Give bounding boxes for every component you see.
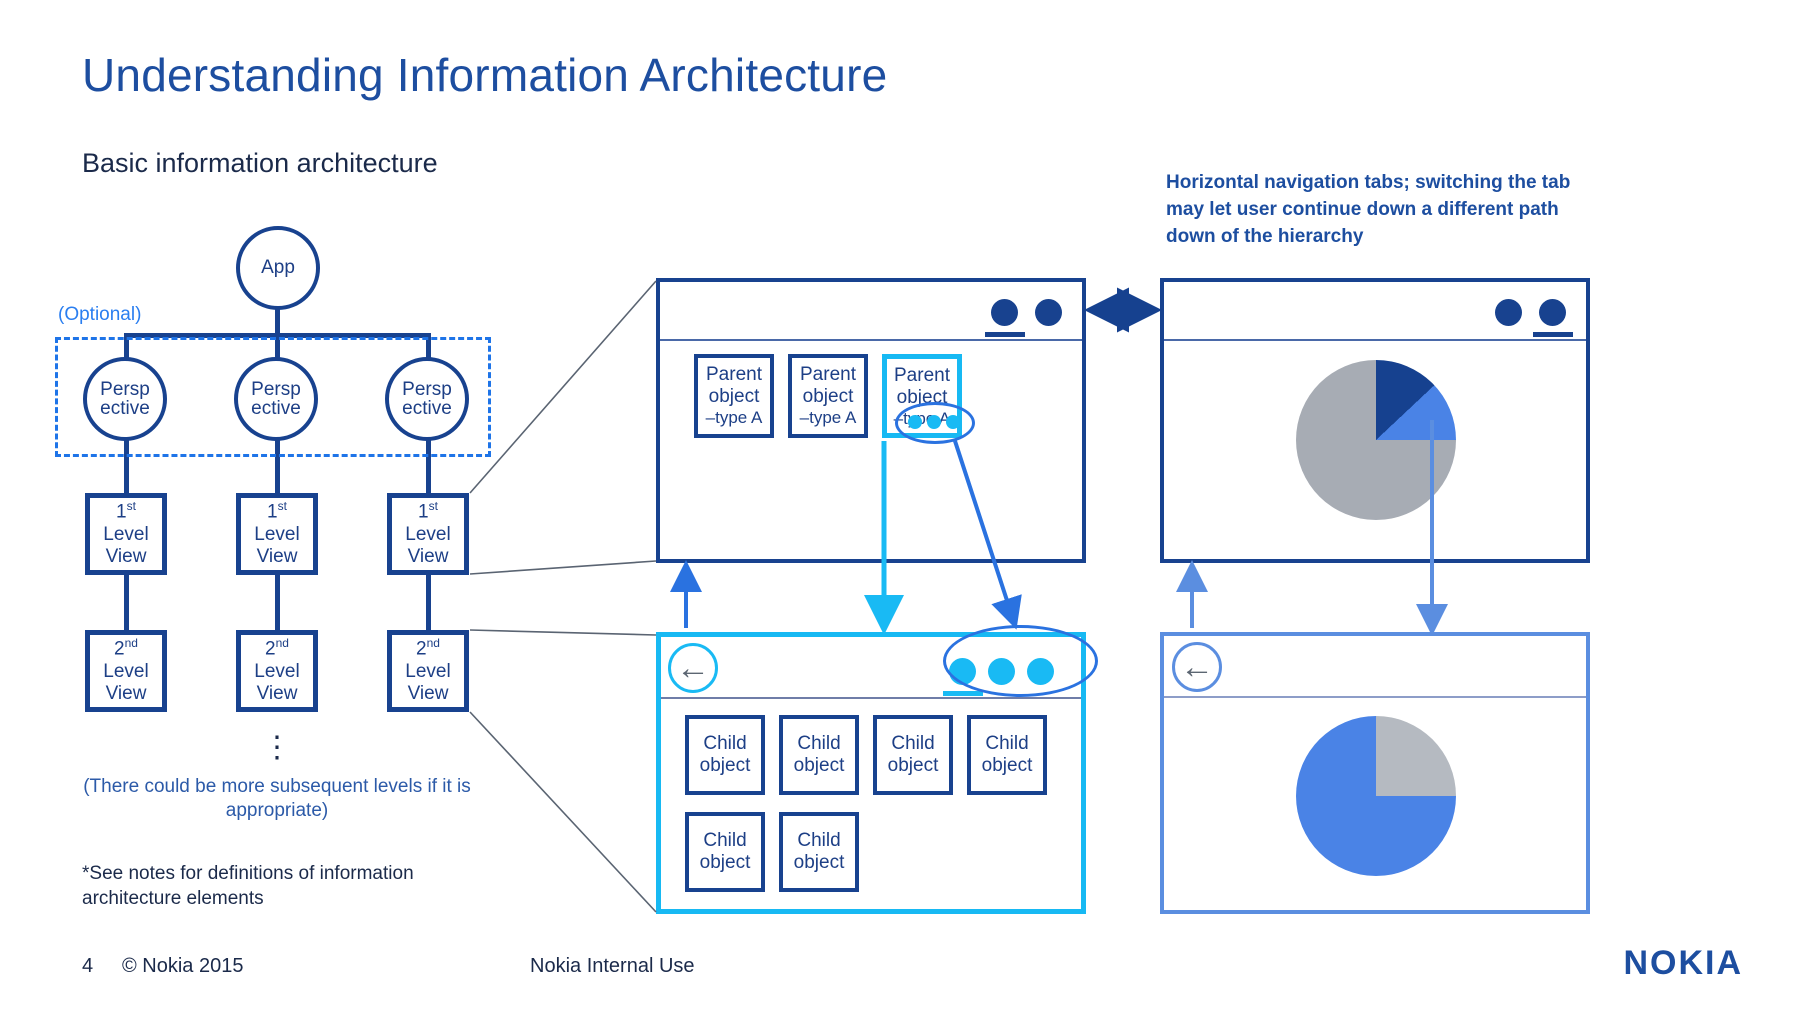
connector-lvl1-to-lvl2-1: [124, 574, 129, 634]
tree-node-level2-2[interactable]: 2nd Level View: [236, 630, 318, 712]
tree-node-label-line1: 1st: [418, 499, 438, 524]
footnote-see-notes: *See notes for definitions of informatio…: [82, 862, 482, 911]
child-object-card-2[interactable]: Child object: [779, 715, 859, 795]
tree-node-label-line1: Persp: [402, 380, 452, 399]
card-line1: Child: [891, 733, 934, 755]
tree-node-label-line3: View: [408, 683, 449, 705]
card-line2: object: [700, 755, 751, 777]
tree-node-label-line2: Level: [254, 524, 299, 546]
card-line1: Parent: [706, 364, 762, 386]
tree-node-level2-1[interactable]: 2nd Level View: [85, 630, 167, 712]
header-divider: [661, 697, 1081, 699]
leader-line-level2-to-child-top: [470, 630, 656, 635]
screen-chart-view-bottom: ←: [1160, 632, 1590, 914]
connector-lvl1-to-lvl2-2: [275, 574, 280, 634]
tree-node-label-line2: Level: [103, 661, 148, 683]
header-divider: [1164, 339, 1586, 341]
card-line2: object: [794, 852, 845, 874]
tree-node-label-line1: 2nd: [416, 636, 440, 661]
tree-node-label-line2: ective: [100, 399, 150, 418]
tree-node-label-line3: View: [257, 546, 298, 568]
footer-copyright: © Nokia 2015: [122, 955, 243, 978]
child-object-card-6[interactable]: Child object: [779, 812, 859, 892]
card-line1: Child: [797, 733, 840, 755]
card-line2: object: [803, 386, 854, 408]
footer-page-number: 4: [82, 955, 93, 978]
header-divider: [1164, 696, 1586, 698]
more-levels-note: (There could be more subsequent levels i…: [77, 775, 477, 824]
back-button[interactable]: ←: [668, 643, 718, 693]
arrow-left-icon: ←: [676, 651, 710, 685]
card-line1: Child: [703, 830, 746, 852]
tree-node-app[interactable]: App: [236, 226, 320, 310]
tree-node-perspective-3[interactable]: Persp ective: [385, 357, 469, 441]
tree-node-label-line2: Level: [254, 661, 299, 683]
tree-node-level2-3[interactable]: 2nd Level View: [387, 630, 469, 712]
tab-active-underline: [1533, 332, 1573, 337]
pie-chart-top-right: [1296, 360, 1456, 520]
card-line2: object: [794, 755, 845, 777]
vertical-ellipsis: ⋮: [257, 742, 297, 755]
card-line2: object: [888, 755, 939, 777]
card-line2: object: [700, 852, 751, 874]
nokia-logo: NOKIA: [1623, 944, 1743, 983]
tab-dot-2[interactable]: [1539, 299, 1566, 326]
tree-node-level1-2[interactable]: 1st Level View: [236, 493, 318, 575]
tree-node-label-line1: Persp: [251, 380, 301, 399]
tree-node-level1-3[interactable]: 1st Level View: [387, 493, 469, 575]
card-line3: –type A: [706, 408, 763, 428]
tree-node-label-line1: 1st: [267, 499, 287, 524]
tree-node-label-line2: ective: [251, 399, 301, 418]
card-line1: Parent: [800, 364, 856, 386]
footer-classification: Nokia Internal Use: [530, 955, 695, 978]
card-line1: Child: [703, 733, 746, 755]
arrow-left-icon: ←: [1180, 650, 1214, 684]
tree-node-label: App: [261, 258, 295, 277]
back-button[interactable]: ←: [1172, 642, 1222, 692]
tree-node-perspective-1[interactable]: Persp ective: [83, 357, 167, 441]
annotation-nav-note: Horizontal navigation tabs; switching th…: [1166, 170, 1586, 251]
card-line2: object: [982, 755, 1033, 777]
tab-active-underline: [985, 332, 1025, 337]
screen-chart-view-top: [1160, 278, 1590, 563]
tree-node-level1-1[interactable]: 1st Level View: [85, 493, 167, 575]
tree-node-label-line2: Level: [405, 661, 450, 683]
optional-label: (Optional): [58, 304, 141, 326]
tree-node-label-line3: View: [106, 683, 147, 705]
card-line1: Parent: [894, 365, 950, 387]
child-tabs-highlight-ellipse: [943, 625, 1098, 697]
tree-node-label-line1: 2nd: [114, 636, 138, 661]
tree-node-label-line3: View: [106, 546, 147, 568]
more-dots-highlight-ellipse: [895, 402, 975, 444]
tree-node-label-line2: Level: [405, 524, 450, 546]
card-line1: Child: [985, 733, 1028, 755]
tab-dot-1[interactable]: [991, 299, 1018, 326]
tree-node-label-line3: View: [257, 683, 298, 705]
tree-node-label-line2: Level: [103, 524, 148, 546]
child-object-card-1[interactable]: Child object: [685, 715, 765, 795]
tree-node-perspective-2[interactable]: Persp ective: [234, 357, 318, 441]
leader-line-level1-to-parent-top: [470, 281, 656, 493]
child-object-card-4[interactable]: Child object: [967, 715, 1047, 795]
tab-active-underline: [943, 691, 983, 696]
tree-node-label-line3: View: [408, 546, 449, 568]
header-divider: [660, 339, 1082, 341]
tree-node-label-line1: Persp: [100, 380, 150, 399]
card-line2: object: [709, 386, 760, 408]
tab-dot-2[interactable]: [1035, 299, 1062, 326]
card-line1: Child: [797, 830, 840, 852]
subtitle: Basic information architecture: [82, 148, 438, 179]
leader-line-level2-to-child-bottom: [470, 712, 656, 912]
screen-parent-list: Parent object –type A Parent object –typ…: [656, 278, 1086, 563]
page-title: Understanding Information Architecture: [82, 48, 1082, 102]
parent-object-card-1[interactable]: Parent object –type A: [694, 354, 774, 438]
pie-chart-bottom-right: [1296, 716, 1456, 876]
tree-node-label-line1: 1st: [116, 499, 136, 524]
connector-lvl1-to-lvl2-3: [426, 574, 431, 634]
leader-line-level1-to-parent-bottom: [470, 561, 656, 574]
child-object-card-3[interactable]: Child object: [873, 715, 953, 795]
tree-node-label-line1: 2nd: [265, 636, 289, 661]
parent-object-card-2[interactable]: Parent object –type A: [788, 354, 868, 438]
tab-dot-1[interactable]: [1495, 299, 1522, 326]
child-object-card-5[interactable]: Child object: [685, 812, 765, 892]
tree-node-label-line2: ective: [402, 399, 452, 418]
card-line3: –type A: [800, 408, 857, 428]
